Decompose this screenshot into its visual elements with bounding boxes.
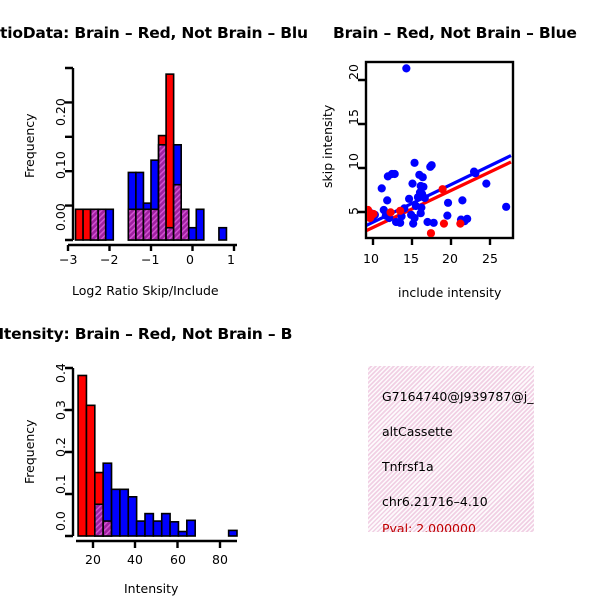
info-box: G7164740@J939787@j_ altCassette Tnfrsf1a… <box>368 366 534 532</box>
scatter-data-points <box>364 64 510 237</box>
info-line-pval: Pval: 2.000000 <box>382 521 476 532</box>
info-line-locus: chr6.21716–4.10 <box>382 494 488 509</box>
scatter-plot <box>300 0 600 300</box>
info-line-id: G7164740@J939787@j_ <box>382 389 533 404</box>
panel-ratio-histogram: RatioData: Brain – Red, Not Brain – Blu … <box>0 0 300 300</box>
intensity-histogram-plot <box>0 300 300 600</box>
panel-intensity-histogram: ne Itensity: Brain – Red, Not Brain – B … <box>0 300 300 600</box>
panel-info: G7164740@J939787@j_ altCassette Tnfrsf1a… <box>300 300 600 600</box>
info-line-gene: Tnfrsf1a <box>382 459 434 474</box>
scatter-y-ticks <box>358 80 366 212</box>
ratio-histogram-plot <box>0 0 300 300</box>
info-line-event-type: altCassette <box>382 424 453 439</box>
ratio-histogram-bars <box>76 74 227 240</box>
figure-canvas: RatioData: Brain – Red, Not Brain – Blu … <box>0 0 600 600</box>
intensity-histogram-bars <box>78 375 237 536</box>
panel-scatter: Brain – Red, Not Brain – Blue skip inten… <box>300 0 600 300</box>
